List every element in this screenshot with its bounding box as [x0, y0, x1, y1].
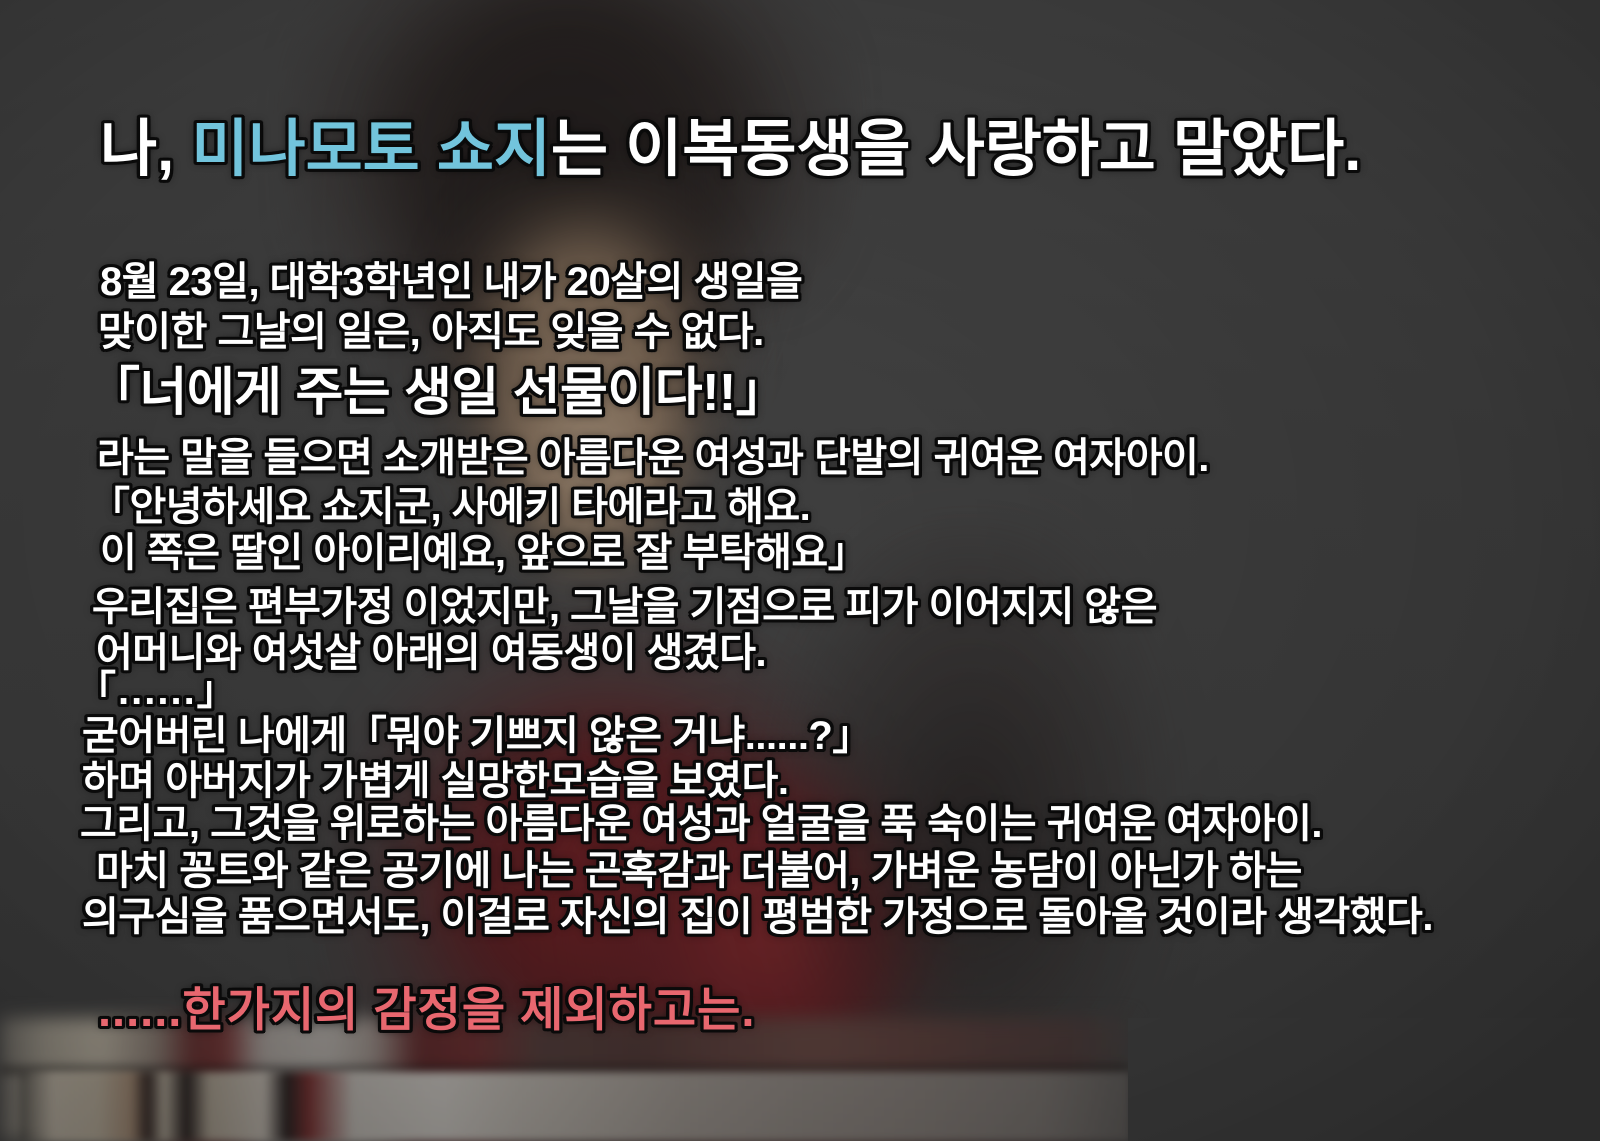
body-line-2: 맞이한 그날의 일은, 아직도 잊을 수 없다.	[98, 299, 764, 357]
title-part-before: 나,	[100, 115, 192, 184]
page-title: 나, 미나모토 쇼지는 이복동생을 사랑하고 말았다.	[100, 98, 1361, 188]
body-line-14: 의구심을 품으면서도, 이걸로 자신의 집이 평범한 가정으로 돌아올 것이라 …	[82, 884, 1433, 942]
text-layer: 나, 미나모토 쇼지는 이복동생을 사랑하고 말았다. 8월 23일, 대학3학…	[0, 0, 1600, 1141]
title-character-name: 미나모토 쇼지	[192, 115, 551, 184]
title-part-after: 는 이복동생을 사랑하고 말았다.	[551, 115, 1361, 184]
body-line-3-emphasis: 「너에게 주는 생일 선물이다!!」	[88, 350, 787, 425]
closing-line: ......한가지의 감정을 제외하고는.	[98, 971, 755, 1040]
body-line-6: 이 쪽은 딸인 아이리예요, 앞으로 잘 부탁해요」	[100, 520, 867, 578]
manga-page: 나, 미나모토 쇼지는 이복동생을 사랑하고 말았다. 8월 23일, 대학3학…	[0, 0, 1600, 1141]
